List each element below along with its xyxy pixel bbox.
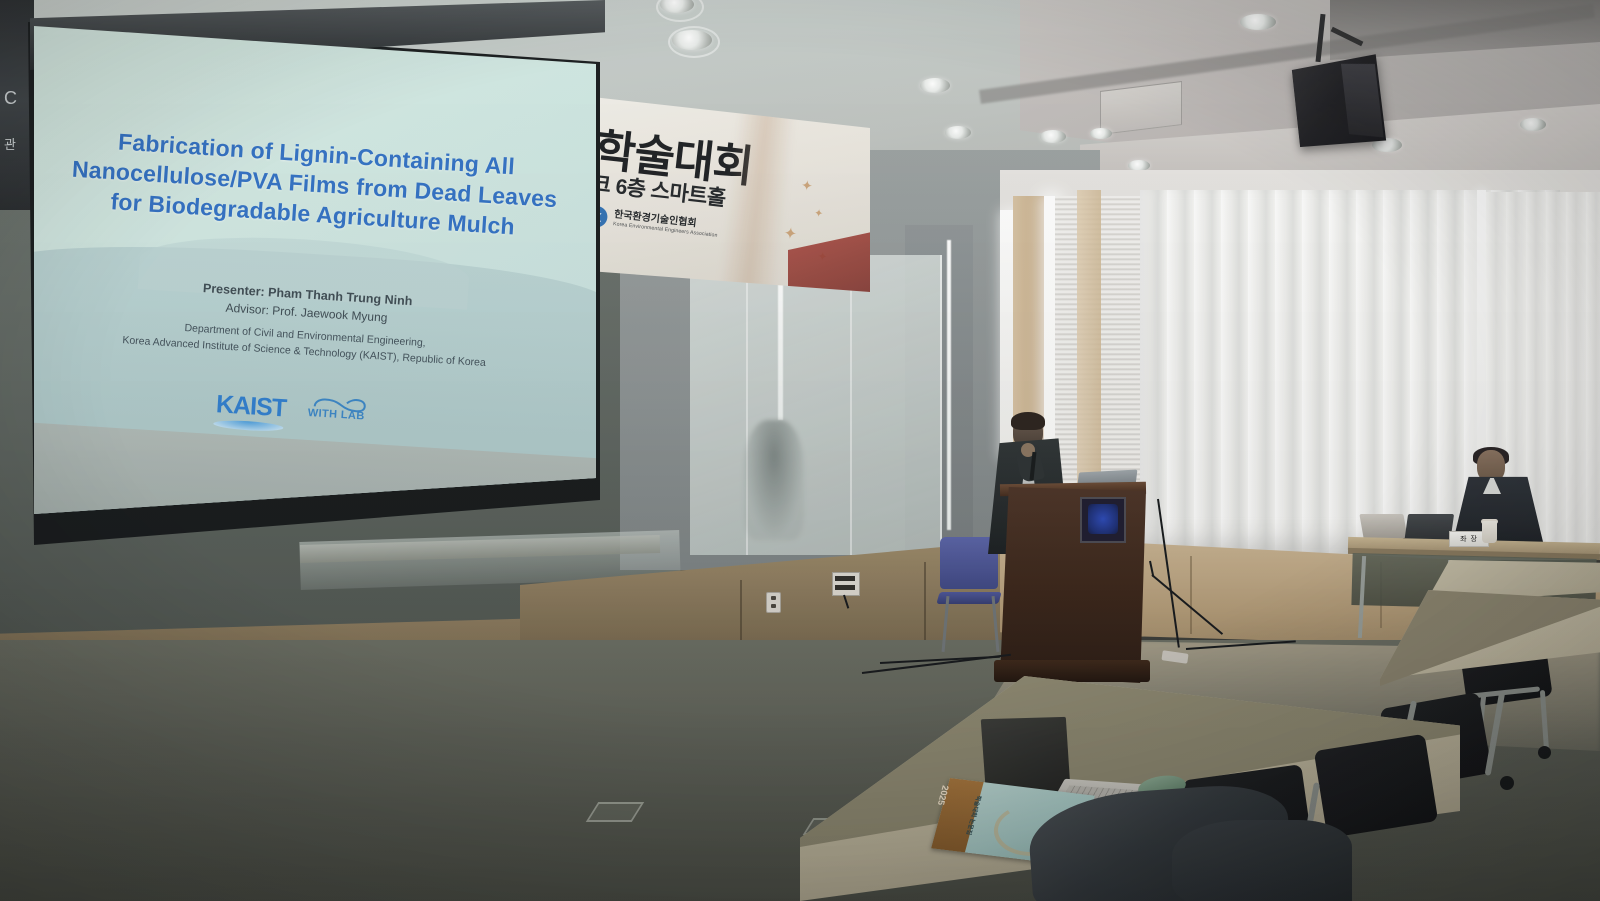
- wainscot-seam: [1190, 556, 1192, 634]
- outlet-slot: [771, 604, 776, 608]
- glass-partition: [690, 255, 942, 555]
- av-jack: [835, 585, 855, 590]
- projection-screen: Fabrication of Lignin-Containing All Nan…: [20, 0, 600, 545]
- downlight-icon: [920, 78, 950, 93]
- light-slit: [947, 240, 951, 530]
- withlab-logo: WITH LAB: [307, 402, 365, 423]
- leaf-icon: ✦: [813, 206, 824, 220]
- downlight-icon: [1240, 14, 1276, 30]
- infinity-loop-icon: [309, 392, 369, 422]
- wall-outlet[interactable]: [766, 592, 781, 613]
- kaist-logo: KAIST: [215, 390, 287, 423]
- light-slit: [778, 262, 783, 420]
- draped-jacket: [1172, 820, 1352, 901]
- presentation-slide: Fabrication of Lignin-Containing All Nan…: [34, 26, 602, 514]
- leaf-icon: ✦: [783, 223, 799, 244]
- wall-sign-glyph-top: C: [4, 88, 17, 109]
- ceiling-speaker-icon: [1292, 54, 1386, 147]
- downlight-icon: [1040, 130, 1066, 143]
- kaist-logo-text: KAIST: [215, 390, 287, 422]
- glass-seam: [850, 255, 852, 555]
- downlight-icon: [945, 126, 971, 139]
- presenter-hair: [1011, 412, 1045, 430]
- slide-title: Fabrication of Lignin-Containing All Nan…: [62, 124, 567, 245]
- glass-reflection-silhouette: [744, 420, 804, 540]
- chair-caster: [1538, 746, 1551, 759]
- podium-emblem: [1080, 497, 1126, 543]
- coffee-cup: [1482, 521, 1497, 543]
- wall-sign-glyph-bottom: 관: [4, 134, 16, 153]
- leaf-icon: ✦: [800, 177, 814, 195]
- stacking-chair: [1314, 734, 1438, 838]
- podium-base: [994, 660, 1150, 682]
- downlight-icon: [1090, 128, 1112, 139]
- banner-org-block: 한국환경기술인협회 Korea Environmental Engineers …: [613, 210, 719, 238]
- conference-room-photo: C 관 계학술대회 노파크 6층 스마트홀 화협회 K 한국환경기술인협회 Ko…: [0, 0, 1600, 901]
- chair-caster: [1500, 776, 1514, 790]
- av-panel-plate[interactable]: [832, 572, 860, 596]
- av-jack: [835, 576, 855, 581]
- slide-content: Fabrication of Lignin-Containing All Nan…: [34, 26, 601, 514]
- downlight-ring-icon: [668, 26, 720, 58]
- downlight-icon: [1520, 118, 1546, 131]
- speaker-grille: [1341, 64, 1384, 138]
- podium-emblem-crest: [1088, 504, 1118, 534]
- outlet-slot: [771, 596, 776, 600]
